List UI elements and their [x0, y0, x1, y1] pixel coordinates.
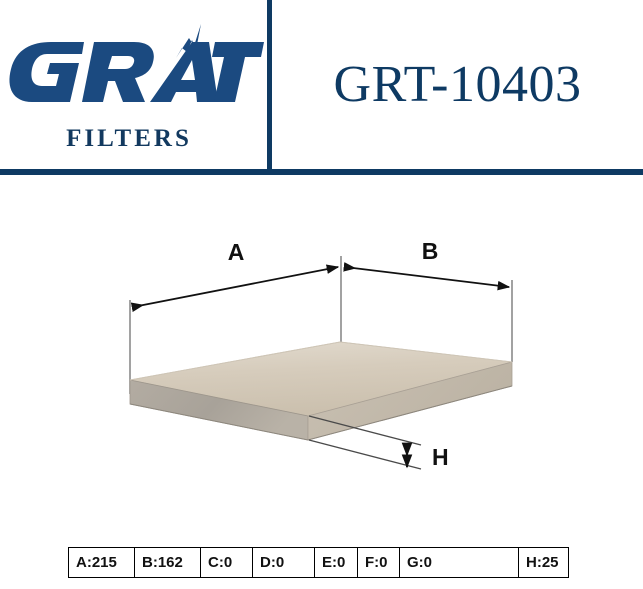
logo-subtitle: FILTERS — [0, 126, 258, 151]
dim-cell-e: E:0 — [315, 548, 358, 578]
dimension-table-wrapper: A:215 B:162 C:0 D:0 E:0 F:0 G:0 H:25 — [68, 547, 569, 577]
dimension-h-witness-bottom — [309, 440, 421, 469]
page-header: FILTERS GRT-10403 — [0, 0, 643, 175]
dimension-b-label: B — [422, 238, 439, 264]
dim-cell-g: G:0 — [400, 548, 519, 578]
dimension-b: B — [345, 238, 509, 287]
product-code: GRT-10403 — [272, 0, 643, 169]
dimension-a: A — [133, 239, 338, 307]
dimension-b-arrow — [345, 267, 509, 287]
grat-wordmark-logo — [6, 24, 264, 114]
table-row: A:215 B:162 C:0 D:0 E:0 F:0 G:0 H:25 — [69, 548, 569, 578]
dimension-a-label: A — [228, 239, 245, 265]
filter-body — [130, 342, 512, 440]
dim-cell-d: D:0 — [253, 548, 315, 578]
dim-cell-h: H:25 — [519, 548, 569, 578]
dim-cell-a: A:215 — [69, 548, 135, 578]
product-technical-drawing: A B H — [0, 176, 643, 531]
dim-cell-f: F:0 — [358, 548, 400, 578]
grat-wordmark-svg — [6, 24, 264, 114]
dim-cell-c: C:0 — [201, 548, 253, 578]
header-horizontal-rule — [0, 169, 643, 175]
dimension-a-arrow — [133, 267, 338, 307]
brand-logo: FILTERS — [0, 0, 267, 169]
filter-drawing-svg: A B H — [0, 176, 643, 531]
dimension-h-label: H — [432, 444, 449, 470]
dimension-table: A:215 B:162 C:0 D:0 E:0 F:0 G:0 H:25 — [68, 547, 569, 578]
dim-cell-b: B:162 — [135, 548, 201, 578]
